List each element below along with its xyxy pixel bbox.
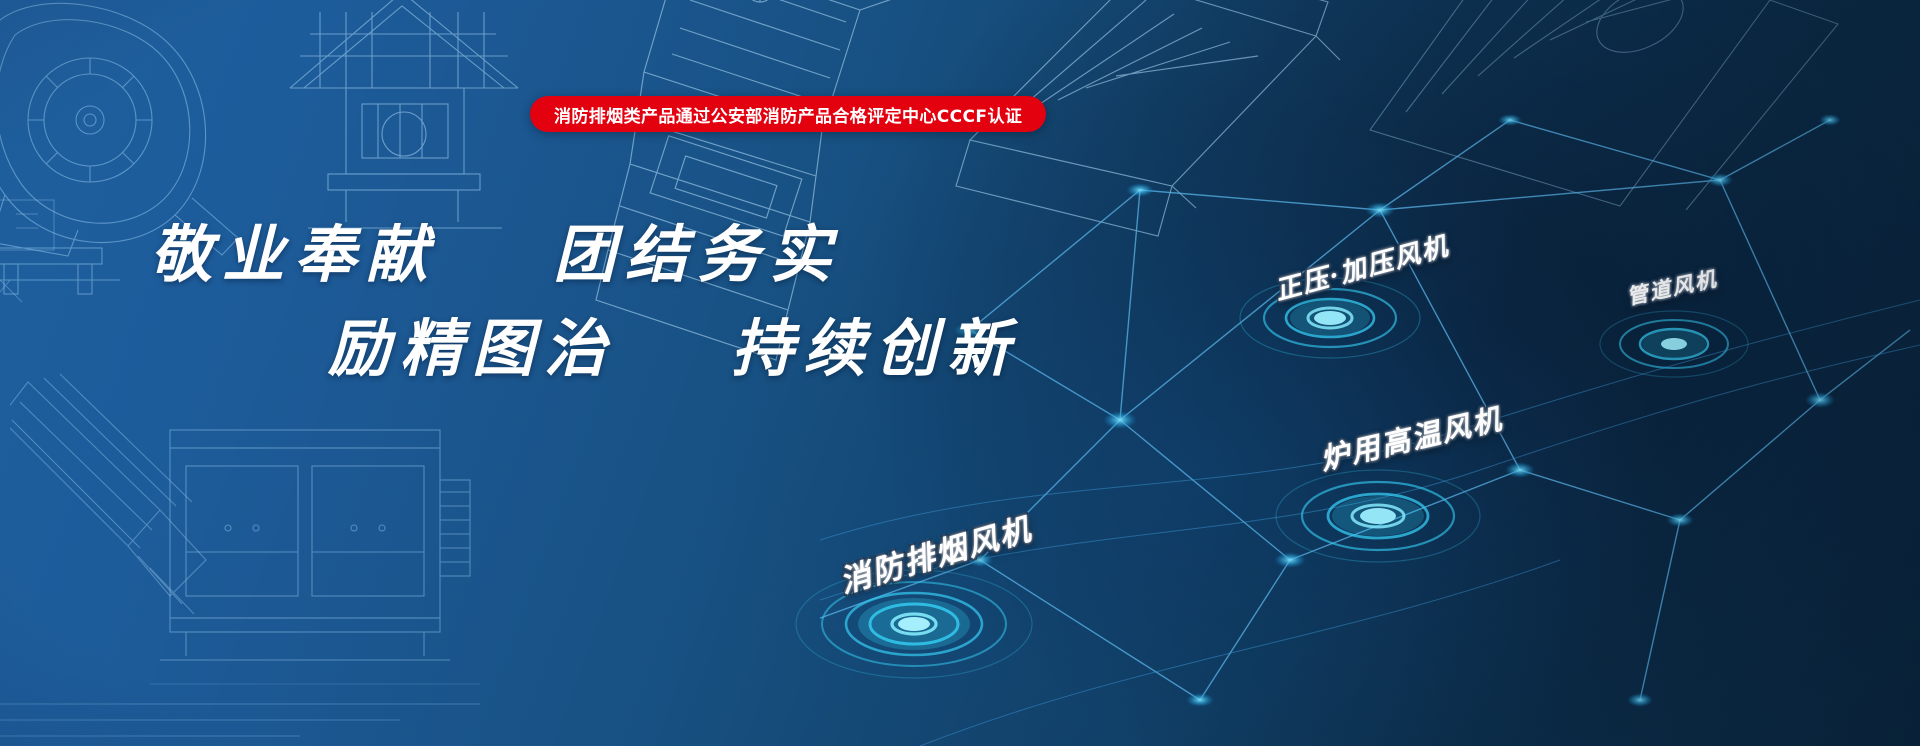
slogan-text-chixu: 持续创新: [731, 312, 1019, 385]
slogan-text-jingye: 敬业奉献: [150, 218, 438, 291]
tube-frame-drawing: [1340, 0, 1860, 210]
slogan-block: 敬业奉献 团结务实 励精图治 持续创新: [150, 208, 910, 396]
slogan-line-1: 敬业奉献 团结务实: [150, 208, 910, 302]
air-handling-unit-drawing: [150, 420, 480, 720]
duct-louver-drawing: [10, 360, 230, 660]
slogan-text-tuanjie: 团结务实: [553, 218, 841, 291]
slogan-line-2: 励精图治 持续创新: [328, 302, 910, 396]
ground-lines: [0, 690, 620, 746]
certification-badge[interactable]: 消防排烟类产品通过公安部消防产品合格评定中心CCCF认证: [530, 96, 1046, 132]
hero-banner: 正压·加压风机 管道风机 炉用高温风机: [0, 0, 1920, 746]
slogan-text-lijing: 励精图治: [328, 312, 616, 385]
